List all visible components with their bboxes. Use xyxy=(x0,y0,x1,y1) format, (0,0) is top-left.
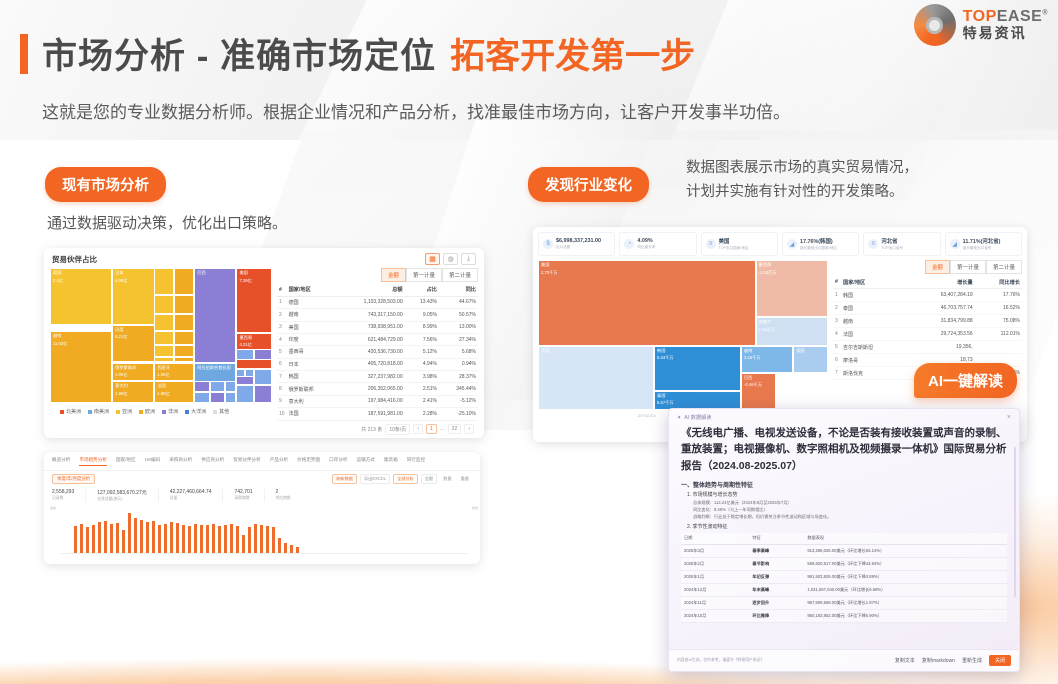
trade-partner-share-panel: 贸易伙伴占比 ▦ ◍ ⤓ 德国2.4亿日本4.06亿美国7.39亿印度6.21亿… xyxy=(44,248,484,438)
list-icon: ≡ xyxy=(706,239,716,249)
chart-bar xyxy=(278,538,281,553)
kpi-label: 出口总额 xyxy=(556,245,601,250)
pagination: 共 213 条 10条/页 ‹ 1 … 22 › xyxy=(277,421,478,435)
left-treemap-wrap: 德国2.4亿日本4.06亿美国7.39亿印度6.21亿墨西哥4.21亿越南11.… xyxy=(50,268,272,435)
treemap-tile-label: 阿拉伯联合酋长国 xyxy=(195,364,235,372)
stat-value: 127,092,583,670.27元 xyxy=(97,489,147,496)
treemap-tile-value: 7.39亿 xyxy=(237,277,271,285)
dialog-footer-actions: 复制文本复制markdown重新生成关闭 xyxy=(895,655,1011,666)
analysis-period-chip[interactable]: 季度/年/月度分析 xyxy=(52,474,95,484)
action-数量[interactable]: 数量 xyxy=(440,475,454,483)
row-country[interactable]: 美国 xyxy=(287,321,335,333)
column-header: 数据表现 xyxy=(804,533,1007,545)
pagination-total: 共 213 条 xyxy=(361,426,382,433)
close-dialog-button[interactable]: 关闭 xyxy=(989,655,1011,666)
chart-bar xyxy=(290,545,293,553)
row-share: 5.12% xyxy=(405,346,439,358)
bottom-tab-供应商分析[interactable]: 供应商分析 xyxy=(201,457,224,466)
legend-swatch xyxy=(116,410,120,414)
treemap-tile-small xyxy=(210,392,226,403)
bottom-tab-集装箱[interactable]: 集装箱 xyxy=(384,457,398,466)
column-header: # xyxy=(277,284,287,296)
row-country[interactable]: 斯洛伐克 xyxy=(841,367,906,380)
row-index: 2 xyxy=(833,302,841,315)
row-share: 2.51% xyxy=(405,383,439,395)
dialog-tag: ✦ AI 数据解读 xyxy=(677,414,711,421)
action-全部分析[interactable]: 全部分析 xyxy=(393,474,418,484)
footer-action-重新生成[interactable]: 重新生成 xyxy=(962,657,982,664)
row-yoy: 345.44% xyxy=(439,383,478,395)
row-date: 2024年12月 xyxy=(681,584,749,597)
table-tab-金额[interactable]: 金额 xyxy=(381,268,406,282)
stat-value: 742,701 xyxy=(234,489,252,495)
dialog-title: 《无线电广播、电视发送设备，不论是否装有接收装置或声音的录制、重放装置；电视摄像… xyxy=(669,423,1019,478)
treemap-tile-value: -3.46千万 xyxy=(742,381,775,389)
row-yoy: -25.10% xyxy=(439,408,478,420)
bottom-tab-价格走势图[interactable]: 价格走势图 xyxy=(297,457,320,466)
treemap-tile-label: 美国 xyxy=(539,261,755,269)
chart-bar xyxy=(86,527,89,553)
chart-bar xyxy=(104,521,107,553)
column-header: 同比 xyxy=(439,284,478,296)
chart-bar xyxy=(158,525,161,553)
table-body: 1德国1,103,328,503.0013.43%44.67%2越南743,31… xyxy=(277,296,478,420)
row-growth: 46,703,757.74 xyxy=(906,302,975,315)
right-table-tabs: 金额第一计量第二计量 xyxy=(833,260,1022,274)
row-country[interactable]: 越南 xyxy=(841,315,906,328)
row-total: 1,103,328,503.00 xyxy=(334,296,404,308)
treemap-tile: 墨西哥-1.53百万 xyxy=(756,260,829,317)
row-feature: 年末高峰 xyxy=(749,584,804,597)
legend-swatch xyxy=(139,410,143,414)
bottom-tab-国家/地区[interactable]: 国家/地区 xyxy=(116,457,136,466)
row-yoy: 27.34% xyxy=(439,333,478,345)
treemap-tile: 俄罗斯联邦2.06亿 xyxy=(112,363,154,382)
kpi-card: ◢17.76%(韩国)增长最快出口国家/地区 xyxy=(782,232,859,256)
legend-item: 其他 xyxy=(213,408,229,415)
treemap-tile-label: 巴西 xyxy=(195,269,235,277)
dialog-header: ✦ AI 数据解读 × xyxy=(669,409,1019,423)
table-row: 2025年2月春节影响559,820,517.00美元（环比下降43.54%） xyxy=(681,558,1007,571)
row-yoy: 50.57% xyxy=(439,309,478,321)
stat-card: 2,558,293记录数 xyxy=(52,489,86,502)
row-date: 2025年1月 xyxy=(681,571,749,584)
bottom-tab-贸易伙伴分析[interactable]: 贸易伙伴分析 xyxy=(233,457,261,466)
caption-left: 通过数据驱动决策，优化出口策略。 xyxy=(47,212,287,233)
treemap-tile: 越南11.03亿 xyxy=(50,331,112,403)
table-row: 8俄罗斯联邦206,352,065.002.51%345.44% xyxy=(277,383,478,395)
pagination-last[interactable]: 22 xyxy=(448,424,462,434)
logo-ring-icon xyxy=(914,4,956,46)
row-country[interactable]: 越南 xyxy=(287,309,335,321)
kpi-label: TOP出口国家/地区 xyxy=(719,246,749,251)
treemap-tile-small xyxy=(174,345,194,357)
left-panel-toolbar: ▦ ◍ ⤓ xyxy=(425,253,476,265)
row-yoy: 44.67% xyxy=(439,296,478,308)
caption-right-line1: 数据图表展示市场的真实贸易情况， xyxy=(686,157,918,181)
kpi-card-row: $$6,998,337,231.00出口总额◔4.09%同比增长率≡美国TOP出… xyxy=(533,227,1027,260)
right-tab-第二计量[interactable]: 第二计量 xyxy=(986,260,1022,274)
chart-bar xyxy=(218,526,221,553)
treemap-tile: 巴西 xyxy=(194,268,236,363)
chart-bar xyxy=(260,525,263,553)
kpi-text: $6,998,337,231.00出口总额 xyxy=(556,238,601,250)
row-date: 2024年10月 xyxy=(681,610,749,623)
treemap-tile-label: 法国 xyxy=(539,347,653,355)
download-icon[interactable]: ⤓ xyxy=(461,253,476,265)
dialog-footer: 内容由AI生成，仅作参考，请遵守《特易用户协议》 复制文本复制markdown重… xyxy=(669,649,1019,671)
treemap-tile-label: 美国 xyxy=(237,269,271,277)
treemap-tile-label: 墨西哥 xyxy=(237,334,271,342)
row-index: 4 xyxy=(833,328,841,341)
treemap-tile-value: -1.53百万 xyxy=(757,269,828,277)
treemap-tile-label: 泰国 xyxy=(655,392,740,400)
treemap-tile: 巴西-3.46千万 xyxy=(741,373,776,411)
logo-text-bottom: 特易资讯 xyxy=(963,26,1048,41)
treemap-tile-label: 韩国 xyxy=(655,347,740,355)
legend-label: 亚洲 xyxy=(122,408,132,415)
stat-label: 总量 xyxy=(170,496,212,501)
stat-card: 127,092,583,670.27元交易总额(美元) xyxy=(97,489,159,502)
chart-bar xyxy=(212,524,215,553)
chart-bar xyxy=(140,520,143,553)
row-total: 621,484,729.00 xyxy=(334,333,404,345)
title-main-text: 市场分析 - 准确市场定位 xyxy=(42,28,436,79)
row-country[interactable]: 泰国 xyxy=(841,302,906,315)
row-yoy: 13.00% xyxy=(439,321,478,333)
legend-swatch xyxy=(88,410,92,414)
treemap-tile: 意大利1.98亿 xyxy=(112,381,154,403)
table-tab-第一计量[interactable]: 第一计量 xyxy=(406,268,442,282)
trend-bar-chart: 金额 数量 xyxy=(60,508,468,554)
kpi-value: 美国 xyxy=(719,237,749,245)
row-share: 4.94% xyxy=(405,358,439,370)
column-header: 国家/地区 xyxy=(287,284,335,296)
row-country[interactable]: 法国 xyxy=(287,408,335,420)
table-row: 2泰国46,703,757.7416.52% xyxy=(833,302,1022,315)
row-growth: 63,407,284.19 xyxy=(906,289,975,302)
kpi-value: 河北省 xyxy=(881,237,903,245)
stat-label: 采购商数 xyxy=(234,496,252,501)
treemap-tile-small xyxy=(154,295,174,314)
row-detail: 950,183,852.00美元（环比下降0.90%） xyxy=(804,610,1007,623)
kpi-value: 11.71%(河北省) xyxy=(963,237,1001,245)
column-header: 国家/地区 xyxy=(841,276,906,289)
treemap-tile-small xyxy=(194,381,210,392)
legend-swatch xyxy=(185,410,189,414)
stat-label: 记录数 xyxy=(52,496,74,501)
legend-swatch xyxy=(213,410,217,414)
treemap-tile: 美国7.39亿 xyxy=(236,268,272,333)
right-tab-金额[interactable]: 金额 xyxy=(925,260,950,274)
page-subtitle: 这就是您的专业数据分析师。根据企业情况和产品分析，找准最佳市场方向，让客户开发事… xyxy=(42,98,790,123)
table-row: 3美国738,938,951.008.99%13.00% xyxy=(277,321,478,333)
row-country[interactable]: 韩国 xyxy=(287,371,335,383)
treemap-tile-value: 2.70千万 xyxy=(539,269,755,277)
treemap-tile: 西班牙1.55亿 xyxy=(154,363,194,382)
action-金额[interactable]: 金额 xyxy=(421,474,437,484)
caption-right-line2: 计划并实施有针对性的开发策略。 xyxy=(686,181,918,205)
bottom-tab-运输方式[interactable]: 运输方式 xyxy=(357,457,375,466)
legend-item: 非洲 xyxy=(162,408,178,415)
row-country[interactable]: 吉尔吉斯斯坦 xyxy=(841,341,906,354)
row-yoy: -5.12% xyxy=(439,395,478,407)
kpi-card: ◔4.09%同比增长率 xyxy=(619,232,696,256)
row-total: 327,237,982.00 xyxy=(334,371,404,383)
dialog-detail-line: 战略判断：行业处于稳定增长期，但仍需关注季节性波动和区域与场变化。 xyxy=(681,513,1007,520)
left-table-wrap: 金额第一计量第二计量 #国家/地区总额占比同比 1德国1,103,328,503… xyxy=(277,268,478,435)
treemap-tile-small xyxy=(254,349,272,360)
logo-wordmark: TOPEASE® 特易资讯 xyxy=(963,9,1048,40)
row-date: 2025年2月 xyxy=(681,558,749,571)
legend-swatch xyxy=(162,410,166,414)
treemap-tile-label: 西班牙 xyxy=(155,364,193,372)
trade-partner-table: #国家/地区总额占比同比 1德国1,103,328,503.0013.43%44… xyxy=(277,284,478,421)
legend-label: 其他 xyxy=(219,408,229,415)
chart-bar xyxy=(164,524,167,553)
treemap-tile-label: 法国 xyxy=(155,382,193,390)
pagination-next[interactable]: › xyxy=(464,424,474,434)
table-row: 2025年3月春季高峰913,286,025.00美元（环比增长63.14%） xyxy=(681,545,1007,558)
treemap-tile-label: 意大利 xyxy=(113,382,153,390)
row-index: 6 xyxy=(277,358,287,370)
chart-bar xyxy=(248,527,251,553)
bottom-panel-subbar: 季度/年/月度分析 刷新数据导出EXCEL全部分析金额数量重量 xyxy=(44,471,480,487)
row-date: 2024年11月 xyxy=(681,597,749,610)
brand-logo: TOPEASE® 特易资讯 xyxy=(914,4,1048,46)
chart-bar xyxy=(146,522,149,553)
chart-bar xyxy=(122,530,125,553)
treemap-tile-value: 2.06亿 xyxy=(113,371,153,379)
ai-interpret-button[interactable]: AI一键解读 xyxy=(914,363,1017,398)
treemap-tile-label: 加拿大 xyxy=(757,318,828,326)
treemap-tile-value: 6.67千万 xyxy=(655,399,740,407)
treemap-tile-small xyxy=(236,369,245,377)
column-header: 特征 xyxy=(749,533,804,545)
table-row: 1德国1,103,328,503.0013.43%44.67% xyxy=(277,296,478,308)
row-total: 738,938,951.00 xyxy=(334,321,404,333)
row-share: 9.05% xyxy=(405,309,439,321)
sparkle-icon: ✦ xyxy=(677,415,681,421)
treemap-tile-value: 6.34千万 xyxy=(655,354,740,362)
treemap-tile: 德国 xyxy=(793,346,828,373)
ai-report-dialog: ✦ AI 数据解读 × 《无线电广播、电视发送设备，不论是否装有接收装置或声音的… xyxy=(668,408,1020,672)
table-row: 3越南31,834,799.8875.08% xyxy=(833,315,1022,328)
legend-item: 大洋洲 xyxy=(185,408,206,415)
left-panel-body: 德国2.4亿日本4.06亿美国7.39亿印度6.21亿墨西哥4.21亿越南11.… xyxy=(44,268,484,435)
legend-label: 欧洲 xyxy=(145,408,155,415)
legend-item: 欧洲 xyxy=(139,408,155,415)
bottom-tab-HS编码[interactable]: HS编码 xyxy=(145,457,161,466)
badge-industry-change: 发现行业变化 xyxy=(528,167,649,202)
stat-card: 42,227,460,664.74总量 xyxy=(170,489,224,502)
treemap-tile-label: 俄罗斯联邦 xyxy=(113,364,153,372)
pagination-page-size[interactable]: 10条/页 xyxy=(385,424,410,435)
kpi-text: 17.76%(韩国)增长最快出口国家/地区 xyxy=(800,237,837,251)
row-yoy: 75.08% xyxy=(975,315,1022,328)
treemap-tile: 美国2.70千万 xyxy=(538,260,756,346)
treemap-tile-label: 巴西 xyxy=(742,374,775,382)
row-index: 7 xyxy=(833,367,841,380)
table-header-row: 日期特征数据表现 xyxy=(681,533,1007,545)
table-row: 1韩国63,407,284.1917.76% xyxy=(833,289,1022,302)
row-yoy: 16.52% xyxy=(975,302,1022,315)
treemap-tile-value: 7.36百万 xyxy=(757,326,828,334)
row-total: 187,591,981.00 xyxy=(334,408,404,420)
treemap-tile-label: 越南 xyxy=(51,332,111,340)
row-country[interactable]: 法国 xyxy=(841,328,906,341)
treemap-tile: 加拿大7.36百万 xyxy=(756,317,829,346)
chart-bar xyxy=(188,526,191,553)
chart-icon: ◢ xyxy=(950,239,960,249)
chart-bar xyxy=(254,524,257,553)
chart-bar xyxy=(98,522,101,553)
footer-action-复制markdown[interactable]: 复制markdown xyxy=(922,657,955,664)
growth-treemap-chart: 美国2.70千万墨西哥-1.53百万加拿大7.36百万韩国6.34千万泰国6.6… xyxy=(538,260,828,410)
table-row: 4印度621,484,729.007.56%27.34% xyxy=(277,333,478,345)
row-yoy: 28.37% xyxy=(439,371,478,383)
row-country[interactable]: 摩洛哥 xyxy=(841,354,906,367)
action-刷新数据[interactable]: 刷新数据 xyxy=(332,474,357,484)
table-row: 2024年12月年末高峰1,031,657,040.00美元（环比增长6.58%… xyxy=(681,584,1007,597)
row-total: 206,352,065.00 xyxy=(334,383,404,395)
footer-action-复制文本[interactable]: 复制文本 xyxy=(895,657,915,664)
dialog-scrollbar[interactable] xyxy=(1014,447,1016,597)
kpi-label: 增长最快出口省份 xyxy=(963,246,1001,251)
row-index: 4 xyxy=(277,333,287,345)
chart-bar xyxy=(134,518,137,553)
chart-bar xyxy=(272,527,275,553)
seasonality-table: 日期特征数据表现 2025年3月春季高峰913,286,025.00美元（环比增… xyxy=(681,533,1007,623)
row-country[interactable]: 日本 xyxy=(287,358,335,370)
stat-value: 2,558,293 xyxy=(52,489,74,495)
row-country[interactable]: 韩国 xyxy=(841,289,906,302)
chart-bar xyxy=(176,523,179,553)
treemap-tile: 德国2.4亿 xyxy=(50,268,112,325)
table-row: 6日本405,720,818.004.94%0.94% xyxy=(277,358,478,370)
table-row: 5墨西哥420,536,730.005.12%5.68% xyxy=(277,346,478,358)
row-country[interactable]: 印度 xyxy=(287,333,335,345)
column-header: 总额 xyxy=(334,284,404,296)
dialog-detail-line: 总体规模：113.24亿美元（2024年8月至2025年7月） xyxy=(681,499,1007,506)
kpi-card: ◢11.71%(河北省)增长最快出口省份 xyxy=(945,232,1022,256)
bottom-tab-采购商分析[interactable]: 采购商分析 xyxy=(169,457,192,466)
right-tab-第一计量[interactable]: 第一计量 xyxy=(950,260,986,274)
treemap-tile-small xyxy=(194,392,210,403)
table-row: 4法国29,724,353.56112.01% xyxy=(833,328,1022,341)
pagination-prev[interactable]: ‹ xyxy=(413,424,423,434)
bottom-panel-actions: 刷新数据导出EXCEL全部分析金额数量重量 xyxy=(332,474,472,484)
chart-bar xyxy=(182,525,185,553)
chart-bar xyxy=(128,513,131,553)
kpi-label: 同比增长率 xyxy=(637,245,655,250)
left-table-tabs: 金额第一计量第二计量 xyxy=(277,268,478,282)
bottom-tab-市场趋势分析[interactable]: 市场趋势分析 xyxy=(79,457,107,466)
treemap-tile-label: 德国 xyxy=(51,269,111,277)
legend-label: 北美洲 xyxy=(66,408,81,415)
legend-item: 南美洲 xyxy=(88,408,109,415)
dialog-item2-heading: 2. 季节性波动特征 xyxy=(681,523,1007,530)
pie-icon[interactable]: ◍ xyxy=(443,253,458,265)
page-header: 市场分析 - 准确市场定位 拓客开发第一步 这就是您的专业数据分析师。根据企业情… xyxy=(0,0,1058,140)
treemap-tile-small xyxy=(245,369,254,377)
action-重量[interactable]: 重量 xyxy=(458,475,472,483)
row-country[interactable]: 意大利 xyxy=(287,395,335,407)
action-导出EXCEL[interactable]: 导出EXCEL xyxy=(360,474,390,484)
row-country[interactable]: 墨西哥 xyxy=(287,346,335,358)
close-icon[interactable]: × xyxy=(1007,414,1011,421)
table-body: 2025年3月春季高峰913,286,025.00美元（环比增长63.14%）2… xyxy=(681,545,1007,623)
legend-item: 亚洲 xyxy=(116,408,132,415)
row-index: 5 xyxy=(277,346,287,358)
treemap-tile-small xyxy=(154,314,174,332)
chart-bar xyxy=(74,526,77,553)
left-panel-header: 贸易伙伴占比 ▦ ◍ ⤓ xyxy=(44,248,484,268)
kpi-text: 11.71%(河北省)增长最快出口省份 xyxy=(963,237,1001,251)
kpi-card: ≡河北省TOP出口省份 xyxy=(863,232,940,256)
title-accent-bar xyxy=(20,34,28,74)
bottom-tab-产品分析[interactable]: 产品分析 xyxy=(270,457,288,466)
dialog-content: 一、整体趋势与周期性特征 1. 市场规模与增长态势 总体规模：113.24亿美元… xyxy=(669,480,1019,623)
row-country[interactable]: 俄罗斯联邦 xyxy=(287,383,335,395)
column-header: 日期 xyxy=(681,533,749,545)
bottom-tab-概览分析[interactable]: 概览分析 xyxy=(52,457,70,466)
stat-label: 交易总额(美元) xyxy=(97,497,147,502)
treemap-tile-value: 4.21亿 xyxy=(237,341,271,349)
dialog-item1-lines: 总体规模：113.24亿美元（2024年8月至2025年7月）同比变化：8.38… xyxy=(681,499,1007,521)
legend-label: 大洋洲 xyxy=(191,408,206,415)
title-accent-text: 拓客开发第一步 xyxy=(450,28,695,79)
treemap-tile-small xyxy=(225,381,236,392)
bottom-tab-同行监控[interactable]: 同行监控 xyxy=(407,457,425,466)
row-index: 8 xyxy=(277,383,287,395)
stat-card: 742,701采购商数 xyxy=(234,489,264,502)
row-feature: 春季高峰 xyxy=(749,545,804,558)
row-country[interactable]: 德国 xyxy=(287,296,335,308)
row-yoy: 0.94% xyxy=(439,358,478,370)
bottom-panel-tabs: 概览分析市场趋势分析国家/地区HS编码采购商分析供应商分析贸易伙伴分析产品分析价… xyxy=(44,452,480,471)
row-index: 5 xyxy=(833,341,841,354)
row-detail: 991,503,826.00美元（环比下降3.89%） xyxy=(804,571,1007,584)
treemap-tile-small xyxy=(154,331,174,345)
treemap-tile-small xyxy=(154,268,174,295)
pagination-current[interactable]: 1 xyxy=(426,424,437,434)
treemap-tile-label: 德国 xyxy=(794,347,827,355)
column-header: 增长量 xyxy=(906,276,975,289)
row-index: 6 xyxy=(833,354,841,367)
row-index: 3 xyxy=(833,315,841,328)
treemap-tile-small xyxy=(236,385,254,403)
table-row: 2024年10月环比微降950,183,852.00美元（环比下降0.90%） xyxy=(681,610,1007,623)
bottom-tab-口岸分析[interactable]: 口岸分析 xyxy=(329,457,347,466)
row-share: 2.28% xyxy=(405,408,439,420)
treemap-tile-value: 1.98亿 xyxy=(113,390,153,398)
badge-existing-market-analysis: 现有市场分析 xyxy=(45,167,166,202)
treemap-tile-value: 3.18千万 xyxy=(742,354,792,362)
row-index: 1 xyxy=(277,296,287,308)
stat-label: 供应商数 xyxy=(276,496,291,501)
caption-right: 数据图表展示市场的真实贸易情况， 计划并实施有针对性的开发策略。 xyxy=(686,157,918,205)
row-detail: 967,509,669.00美元（环比增长1.87%） xyxy=(804,597,1007,610)
kpi-value: $6,998,337,231.00 xyxy=(556,238,601,244)
row-yoy: 5.68% xyxy=(439,346,478,358)
row-index: 9 xyxy=(277,395,287,407)
chart-axis-label-left: 金额 xyxy=(50,506,56,510)
grid-icon[interactable]: ▦ xyxy=(425,253,440,265)
table-tab-第二计量[interactable]: 第二计量 xyxy=(442,268,478,282)
row-feature: 年初反弹 xyxy=(749,571,804,584)
table-row: 2越南743,317,150.009.05%50.57% xyxy=(277,309,478,321)
